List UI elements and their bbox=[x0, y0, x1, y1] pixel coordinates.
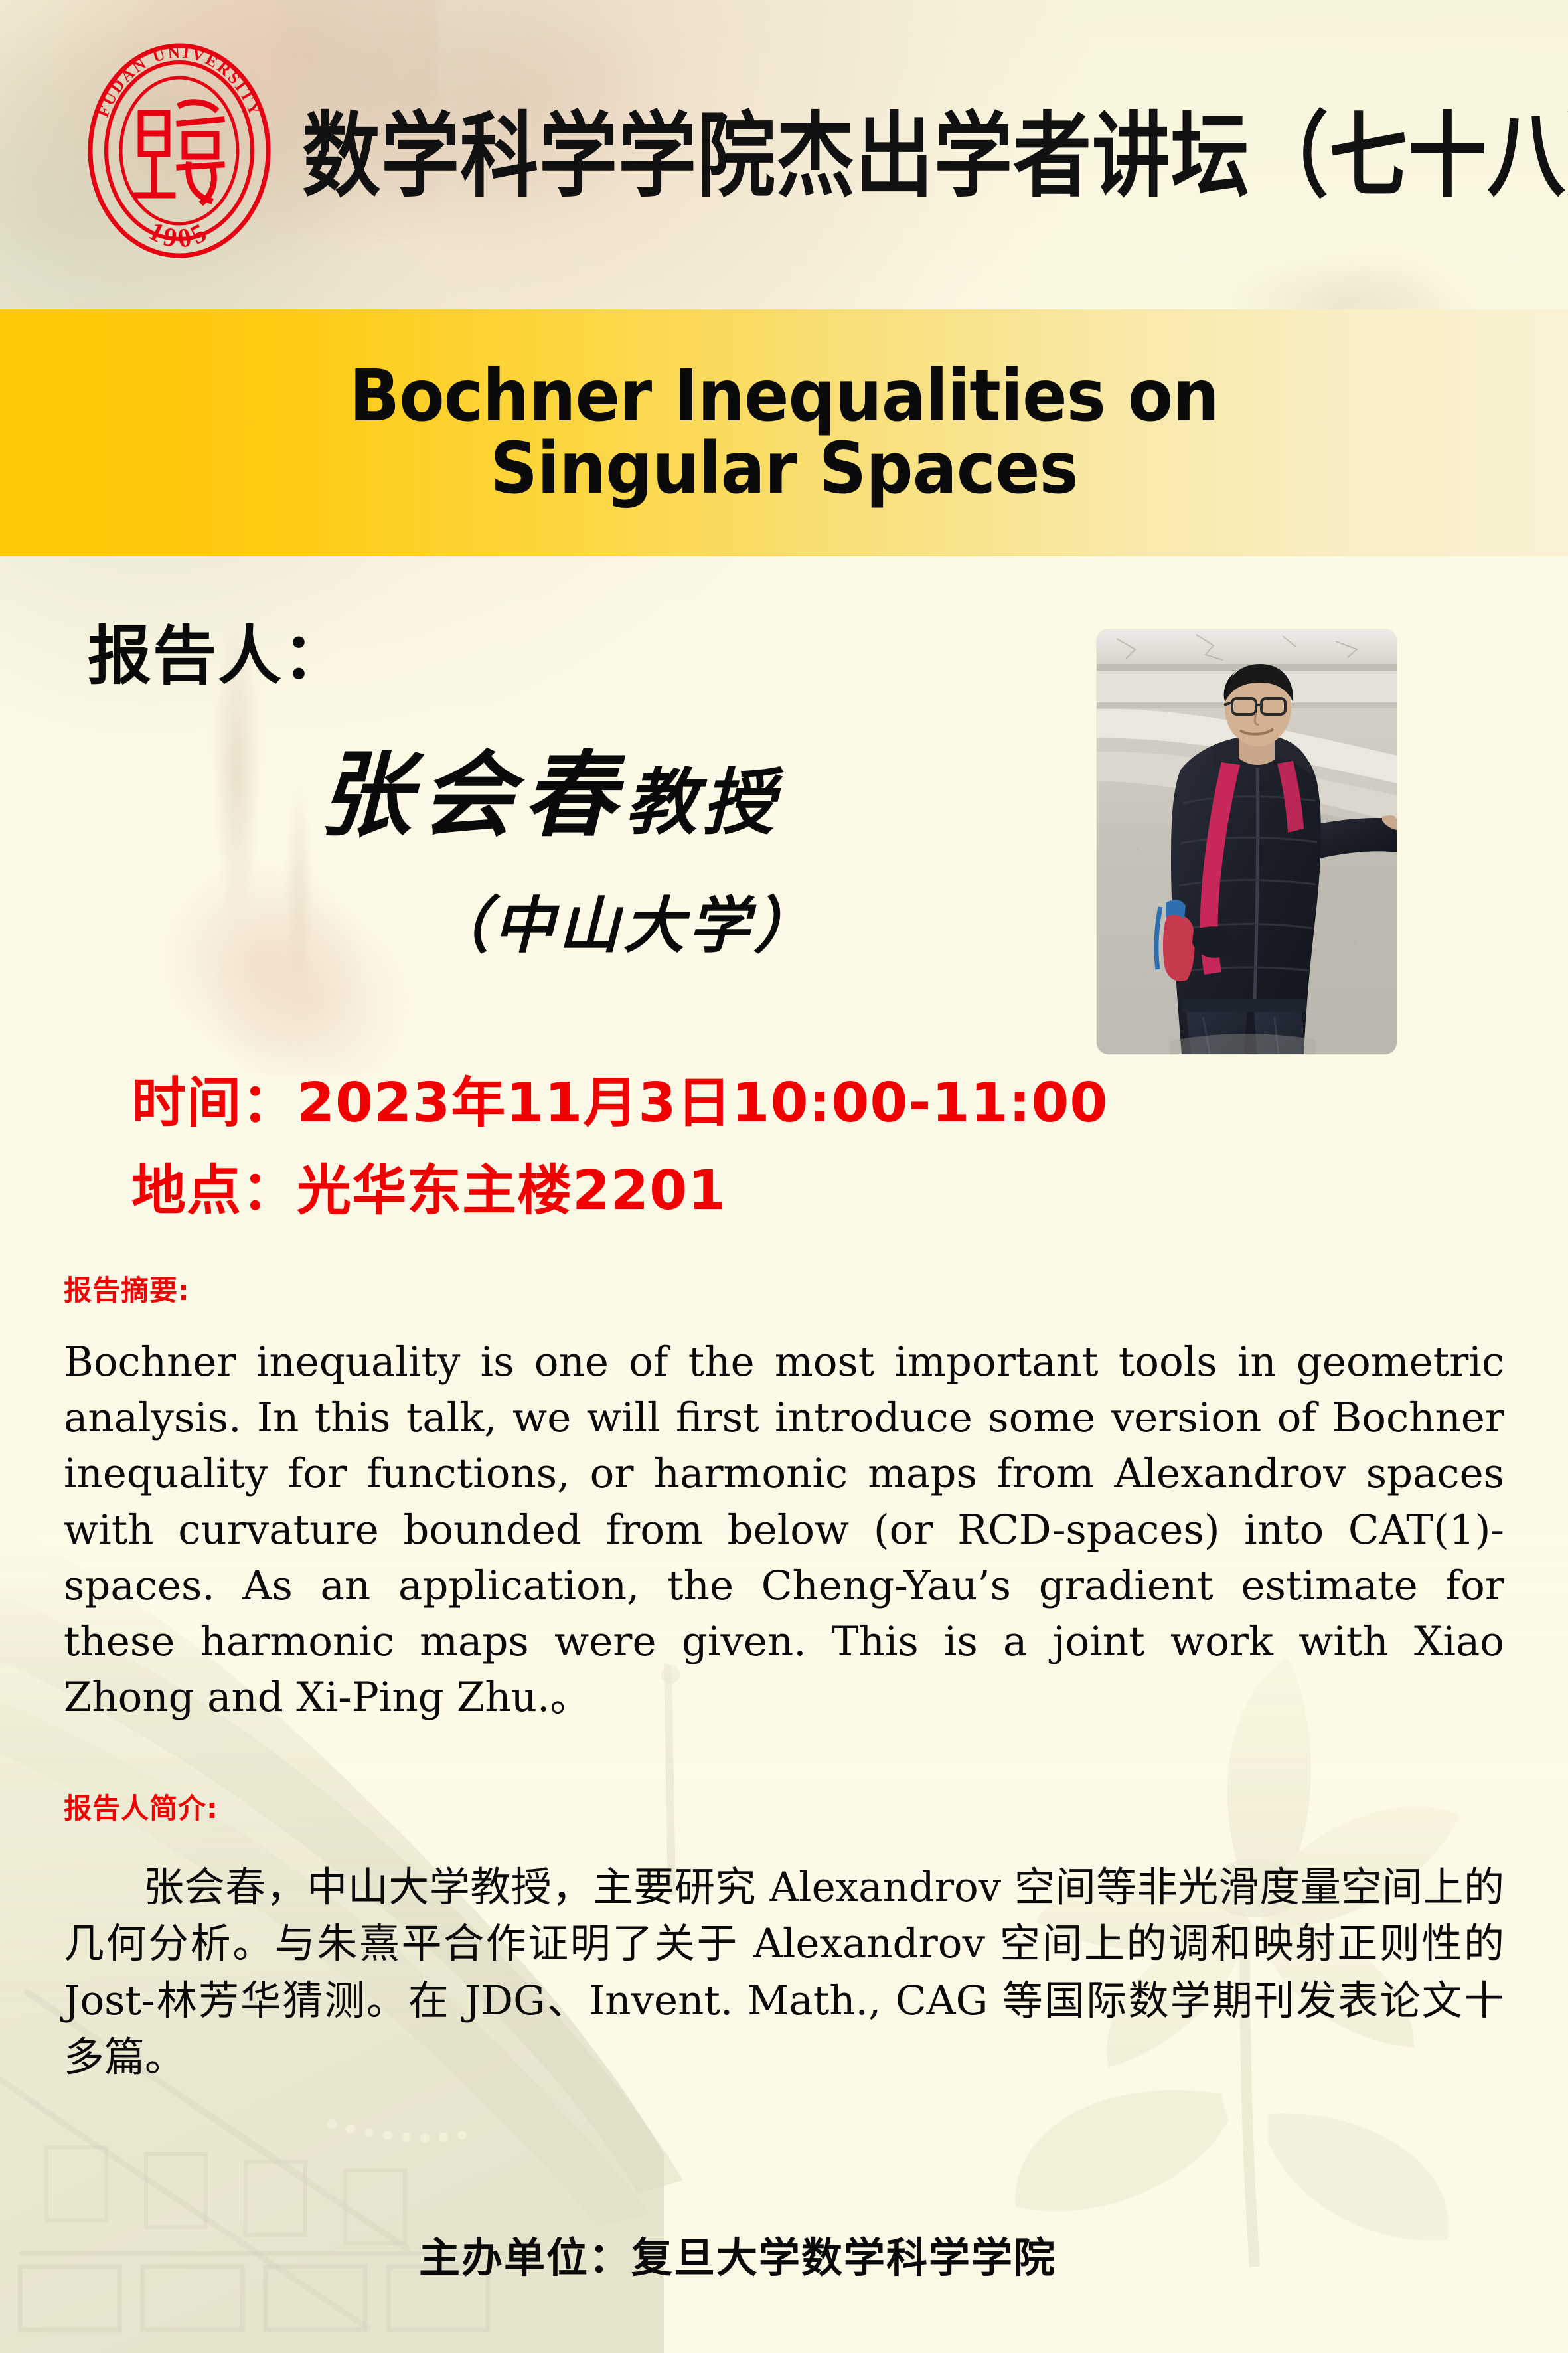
fudan-university-seal-icon: FUDAN UNIVERSITY 1905 bbox=[80, 41, 279, 260]
event-time: 时间：2023年11月3日10:00-11:00 bbox=[131, 1058, 1108, 1137]
talk-title-line-1: Bochner Inequalities on bbox=[349, 361, 1219, 433]
svg-text:1905: 1905 bbox=[144, 216, 214, 254]
poster-header: FUDAN UNIVERSITY 1905 bbox=[0, 0, 1568, 309]
abstract-heading: 报告摘要: bbox=[64, 1268, 190, 1309]
poster-root: FUDAN UNIVERSITY 1905 bbox=[0, 0, 1568, 2353]
organizer-footer: 主办单位：复旦大学数学科学学院 bbox=[0, 2224, 1568, 2284]
event-location: 地点：光华东主楼2201 bbox=[131, 1146, 726, 1225]
speaker-name-text: 张会春 bbox=[319, 741, 625, 850]
bio-body: 张会春，中山大学教授，主要研究 Alexandrov 空间等非光滑度量空间上的几… bbox=[64, 1859, 1504, 2086]
bio-heading: 报告人简介: bbox=[64, 1786, 218, 1826]
talk-title-banner: Bochner Inequalities on Singular Spaces bbox=[0, 309, 1568, 556]
speaker-affiliation: （中山大学） bbox=[428, 876, 819, 965]
speaker-label: 报告人： bbox=[88, 604, 348, 696]
speaker-name: 张会春教授 bbox=[319, 720, 779, 854]
speaker-photo bbox=[1097, 629, 1397, 1054]
page-title: 数学科学学院杰出学者讲坛（七十八） bbox=[302, 110, 1568, 202]
abstract-body: Bochner inequality is one of the most im… bbox=[64, 1335, 1504, 1726]
speaker-academic-title: 教授 bbox=[625, 761, 779, 845]
talk-title-line-2: Singular Spaces bbox=[490, 433, 1077, 505]
